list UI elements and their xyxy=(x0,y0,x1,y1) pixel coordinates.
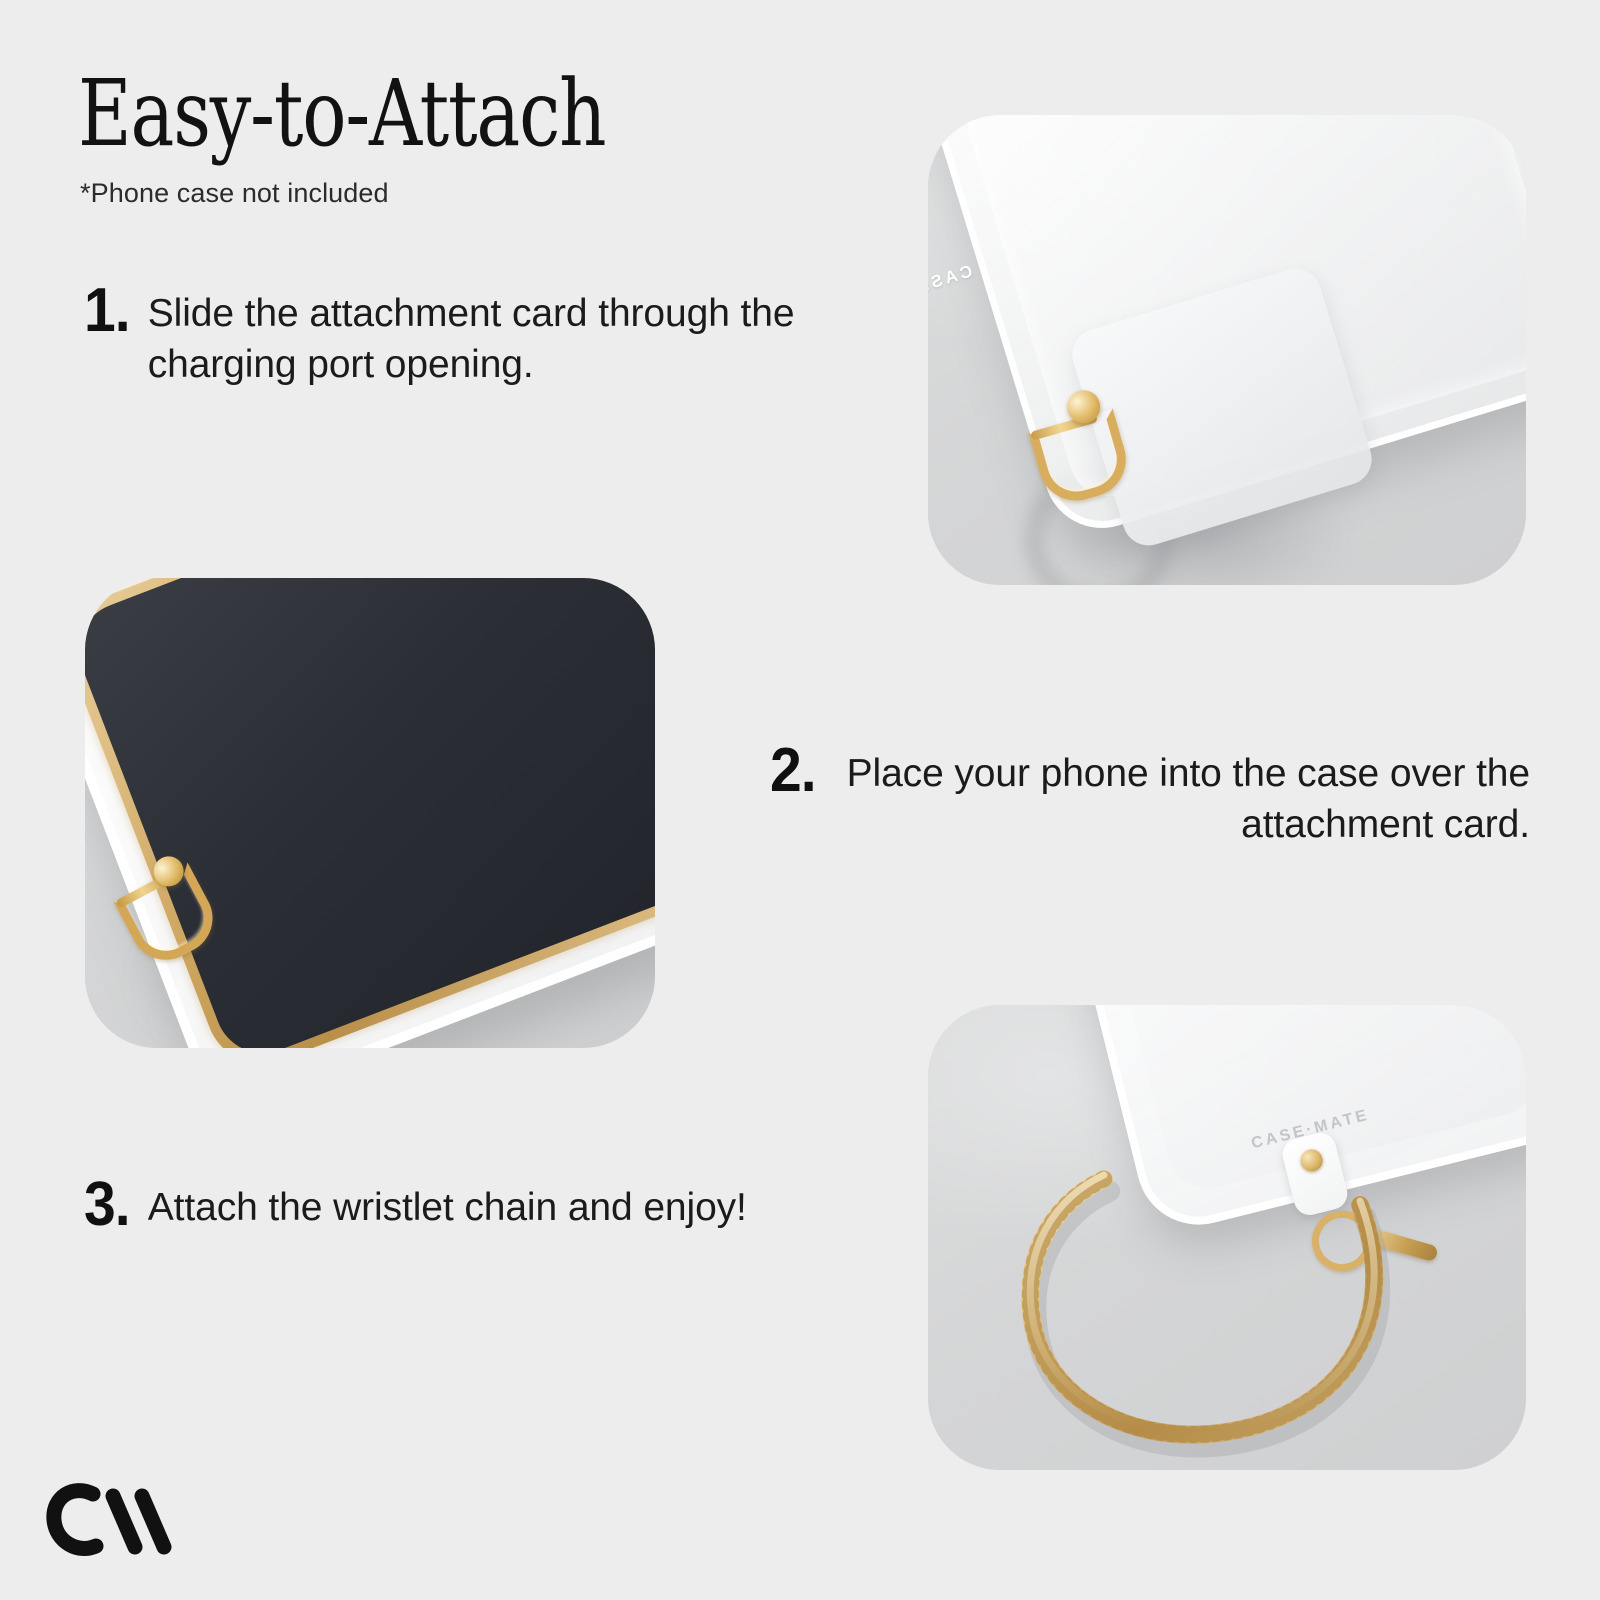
gold-wristlet-chain xyxy=(928,1005,1526,1470)
step-3-number: 3. xyxy=(84,1176,130,1235)
step-2-number: 2. xyxy=(770,742,816,801)
step-1-text: Slide the attachment card through the ch… xyxy=(148,282,914,390)
disclaimer-text: *Phone case not included xyxy=(80,178,389,209)
step-1: 1. Slide the attachment card through the… xyxy=(84,282,914,390)
page-title: Easy-to-Attach xyxy=(78,68,605,160)
step-1-number: 1. xyxy=(84,282,130,341)
case-mate-logo xyxy=(46,1478,172,1564)
step-3: 3. Attach the wristlet chain and enjoy! xyxy=(84,1176,784,1235)
step-2-text: Place your phone into the case over the … xyxy=(834,742,1530,850)
photo-attachment-card: CASE·MATE xyxy=(928,115,1526,585)
gold-phone-frame xyxy=(85,578,655,1048)
step-3-text: Attach the wristlet chain and enjoy! xyxy=(148,1176,747,1234)
photo-wristlet-chain: CASE·MATE xyxy=(928,1005,1526,1470)
step-2: 2. Place your phone into the case over t… xyxy=(770,742,1530,850)
infographic-page: Easy-to-Attach *Phone case not included … xyxy=(0,0,1600,1600)
clear-phone-case xyxy=(85,578,655,1048)
photo-phone-in-case xyxy=(85,578,655,1048)
phone-screen xyxy=(85,578,655,1048)
